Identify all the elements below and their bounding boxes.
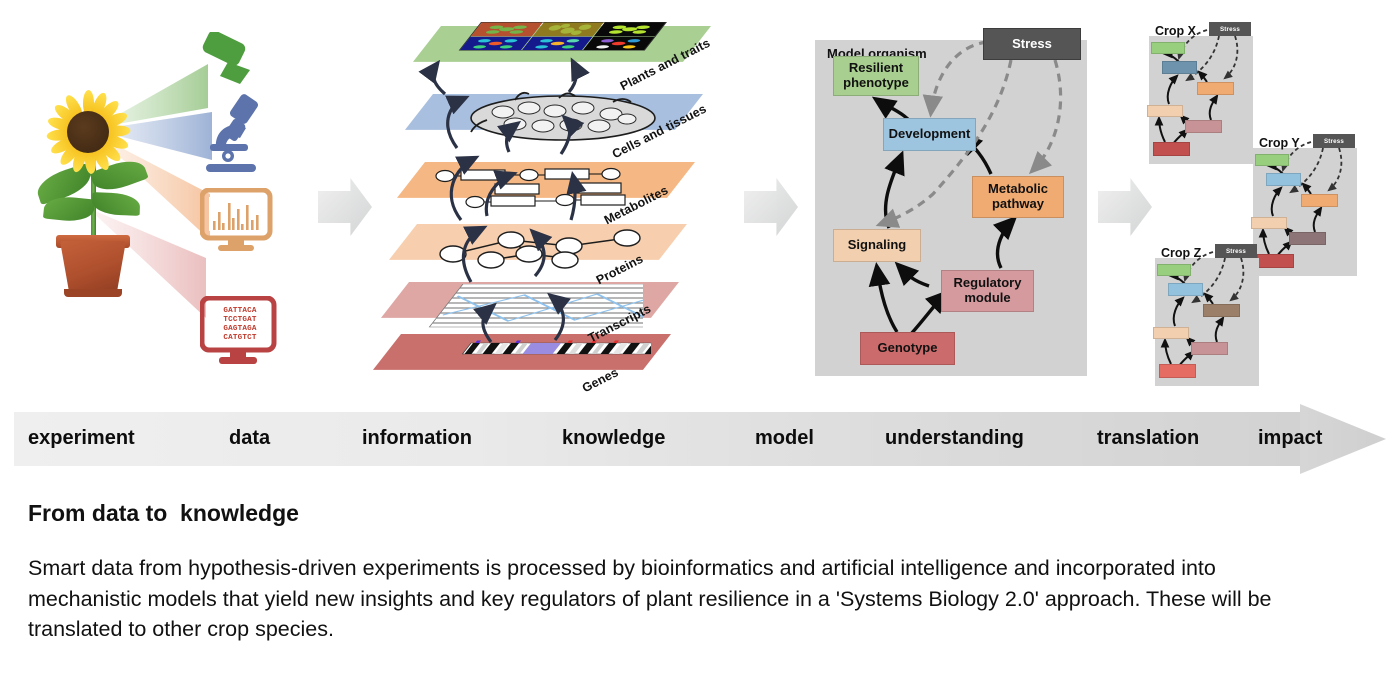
plant-pot [60,241,126,293]
crop-x-node-phenotype [1151,42,1185,54]
node-development-label: Development [889,127,971,142]
dna-sequence-readout: GATTACA TCCTGAT GAGTAGA CATGTCT [211,306,269,344]
crop-y-node-regulatory [1289,232,1326,245]
crop-z-node-metabolic [1203,304,1240,317]
stage-label-knowledge: knowledge [562,427,665,450]
crop-z-node-development [1168,283,1203,296]
node-development: Development [883,118,976,151]
arrow-data-to-model [744,178,798,236]
figure-root: camera microscope [0,0,1400,700]
crop-x-node-development [1162,61,1197,74]
node-signaling-label: Signaling [848,238,907,253]
dna-line-1: GATTACA [223,307,256,316]
caption-block: From data to knowledge Smart data from h… [28,500,1348,645]
node-signaling: Signaling [833,229,921,262]
crop-x-node-metabolic [1197,82,1234,95]
sequencer-monitor-icon: GATTACA TCCTGAT GAGTAGA CATGTCT [200,296,280,370]
stage-label-translation: translation [1097,427,1199,450]
crop-y-node-development [1266,173,1301,186]
panel-experiment: camera microscope [0,8,320,398]
node-regulatory-module-label: Regulatory module [942,276,1033,305]
stage-label-data: data [229,427,270,450]
caption-body: Smart data from hypothesis-driven experi… [28,553,1318,645]
node-metabolic-pathway-label: Metabolic pathway [973,182,1063,211]
crop-y-node-phenotype [1255,154,1289,166]
crop-z-node-signaling [1153,327,1189,339]
sunflower-plant [30,93,160,308]
dna-line-2: TCCTGAT [223,316,256,325]
stage-label-impact: impact [1258,427,1322,450]
crop-x-node-signaling [1147,105,1183,117]
node-resilient-phenotype: Resilient phenotype [833,56,919,96]
stage-label-model: model [755,427,814,450]
panel-crops: Crop X Stress [1145,20,1395,380]
crop-z-node-phenotype [1157,264,1191,276]
crop-x-node-regulatory [1185,120,1222,133]
crop-y-node-metabolic [1301,194,1338,207]
crop-z-node-regulatory [1191,342,1228,355]
node-metabolic-pathway: Metabolic pathway [972,176,1064,218]
crop-y-node-signaling [1251,217,1287,229]
stage-label-experiment: experiment [28,427,135,450]
stage-label-understanding: understanding [885,427,1024,450]
dna-line-3: GAGTAGA [223,325,256,334]
crop-x-node-genotype [1153,142,1190,156]
crop-z-node-genotype [1159,364,1196,378]
mass-spectrometer-monitor-icon: metabolite profile [200,188,276,254]
pot-base [64,289,122,297]
arrow-model-to-translation [1098,178,1152,236]
microscope-icon: microscope [200,94,268,176]
crop-card-z: Crop Z Stress [1151,242,1271,392]
node-stress: Stress [983,28,1081,60]
node-resilient-phenotype-label: Resilient phenotype [834,61,918,90]
panel-model-organism: Model organism [815,28,1090,376]
dna-line-4: CATGTCT [223,334,256,343]
node-regulatory-module: Regulatory module [941,270,1034,312]
caption-title: From data to knowledge [28,500,1348,527]
phenotyping-camera-icon: camera [198,32,260,92]
crop-card-x: Crop X Stress [1145,20,1265,170]
node-genotype: Genotype [860,332,955,365]
node-stress-label: Stress [1012,37,1052,52]
flower-disc-icon [67,111,109,153]
node-genotype-label: Genotype [878,341,938,356]
layer-flow-arrows [375,8,735,393]
stage-label-information: information [362,427,472,450]
stage-progression-arrow: experiment data information knowledge mo… [14,404,1386,474]
arrow-experiment-to-data [318,178,372,236]
panel-data-layers: Plants and traits Cells and tissues Meta… [375,8,735,393]
